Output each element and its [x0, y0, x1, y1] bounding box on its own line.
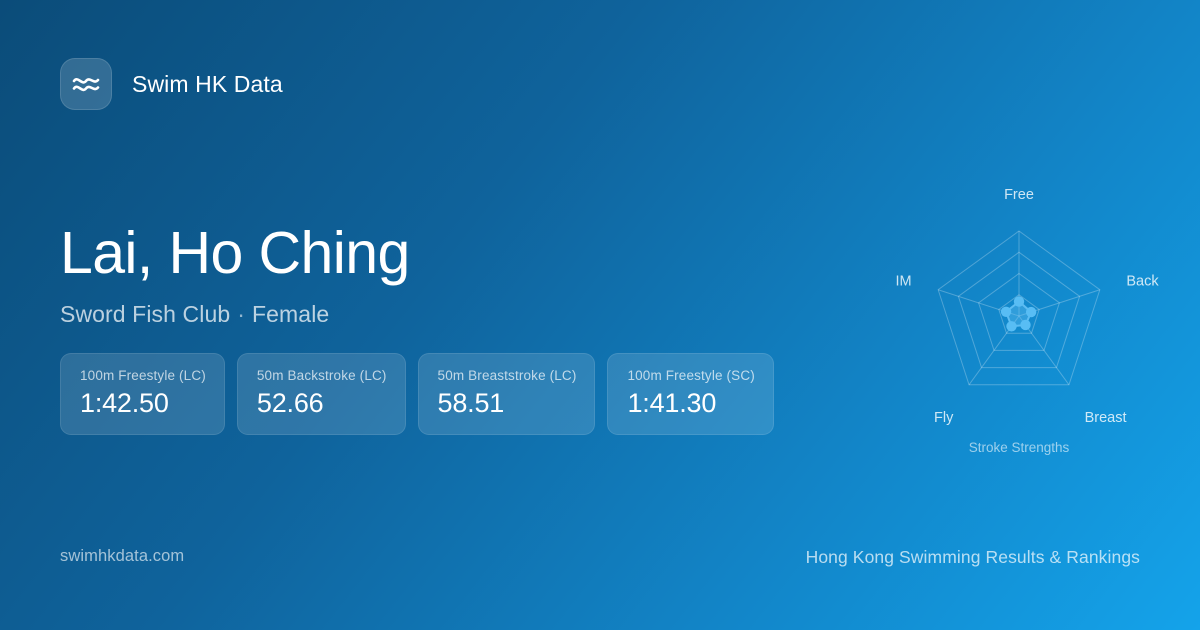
- wave-approx-icon: [71, 73, 101, 95]
- stat-card[interactable]: 100m Freestyle (LC) 1:42.50: [60, 353, 225, 435]
- radar-axis-label-back: Back: [1126, 273, 1159, 289]
- athlete-identity: Lai, Ho Ching Sword Fish Club·Female: [60, 222, 410, 328]
- stat-card[interactable]: 50m Breaststroke (LC) 58.51: [418, 353, 596, 435]
- app-logo-badge[interactable]: [60, 58, 112, 110]
- radar-data-point-im: [1001, 307, 1011, 317]
- radar-axis-label-im: IM: [896, 273, 912, 289]
- stat-card[interactable]: 100m Freestyle (SC) 1:41.30: [607, 353, 773, 435]
- stat-value: 1:42.50: [80, 388, 206, 419]
- athlete-gender: Female: [252, 301, 329, 327]
- page-title: Lai, Ho Ching: [60, 222, 410, 285]
- radar-caption: Stroke Strengths: [969, 440, 1070, 455]
- radar-axis-label-free: Free: [1004, 187, 1034, 203]
- stat-value: 1:41.30: [627, 388, 754, 419]
- stat-label: 100m Freestyle (LC): [80, 368, 206, 383]
- stat-label: 50m Backstroke (LC): [257, 368, 387, 383]
- meta-separator: ·: [230, 301, 252, 327]
- stat-card-list: 100m Freestyle (LC) 1:42.50 50m Backstro…: [60, 353, 774, 435]
- radar-axis-label-fly: Fly: [934, 410, 954, 426]
- radar-axis-label-breast: Breast: [1085, 410, 1127, 426]
- radar-data-point-back: [1026, 307, 1036, 317]
- brand-header: Swim HK Data: [60, 58, 283, 110]
- radar-svg: FreeBackBreastFlyIM Stroke Strengths: [869, 160, 1169, 470]
- stat-value: 52.66: [257, 388, 387, 419]
- athlete-club: Sword Fish Club: [60, 301, 230, 327]
- radar-data-point-fly: [1006, 321, 1016, 331]
- stat-label: 100m Freestyle (SC): [627, 368, 754, 383]
- footer-tagline: Hong Kong Swimming Results & Rankings: [806, 547, 1140, 568]
- athlete-meta: Sword Fish Club·Female: [60, 301, 410, 328]
- stat-label: 50m Breaststroke (LC): [438, 368, 577, 383]
- stat-card[interactable]: 50m Backstroke (LC) 52.66: [237, 353, 406, 435]
- footer-site-url[interactable]: swimhkdata.com: [60, 547, 184, 566]
- radar-axis-labels: FreeBackBreastFlyIM: [896, 187, 1160, 426]
- radar-data-point-free: [1014, 296, 1024, 306]
- stroke-strengths-radar-chart: FreeBackBreastFlyIM Stroke Strengths: [869, 160, 1169, 470]
- brand-name: Swim HK Data: [132, 71, 283, 98]
- stat-value: 58.51: [438, 388, 577, 419]
- radar-data-point-breast: [1020, 320, 1030, 330]
